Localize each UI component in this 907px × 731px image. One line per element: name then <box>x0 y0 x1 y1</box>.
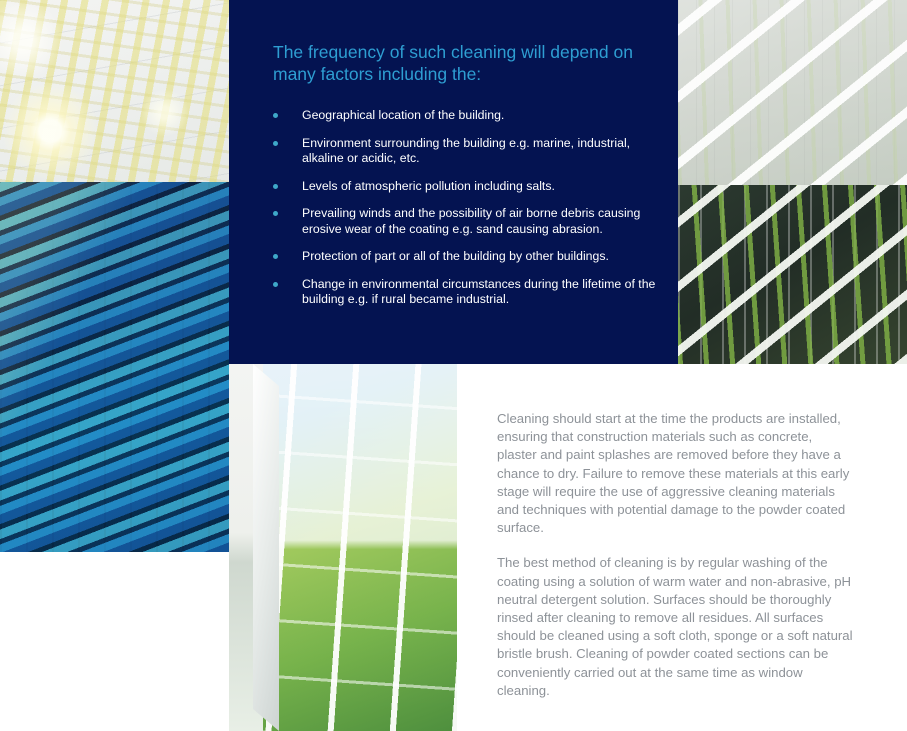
body-copy: Cleaning should start at the time the pr… <box>497 410 853 717</box>
factors-bullet-list: Geographical location of the building. E… <box>270 108 670 320</box>
image-glass-green <box>229 364 457 731</box>
list-item: Environment surrounding the building e.g… <box>270 136 670 167</box>
list-item: Prevailing winds and the possibility of … <box>270 206 670 237</box>
image-green-dark <box>678 185 907 364</box>
image-green-pale <box>678 0 907 185</box>
body-paragraph: The best method of cleaning is by regula… <box>497 554 853 700</box>
body-paragraph: Cleaning should start at the time the pr… <box>497 410 853 537</box>
list-item: Geographical location of the building. <box>270 108 670 124</box>
list-item: Protection of part or all of the buildin… <box>270 249 670 265</box>
glass-fin <box>253 364 279 731</box>
navy-content-panel: The frequency of such cleaning will depe… <box>229 0 678 364</box>
panel-heading: The frequency of such cleaning will depe… <box>273 41 633 85</box>
image-facade-blue <box>0 182 229 552</box>
list-item: Levels of atmospheric pollution includin… <box>270 179 670 195</box>
image-facade-gold <box>0 0 229 182</box>
list-item: Change in environmental circumstances du… <box>270 277 670 308</box>
brochure-page: The frequency of such cleaning will depe… <box>0 0 907 731</box>
